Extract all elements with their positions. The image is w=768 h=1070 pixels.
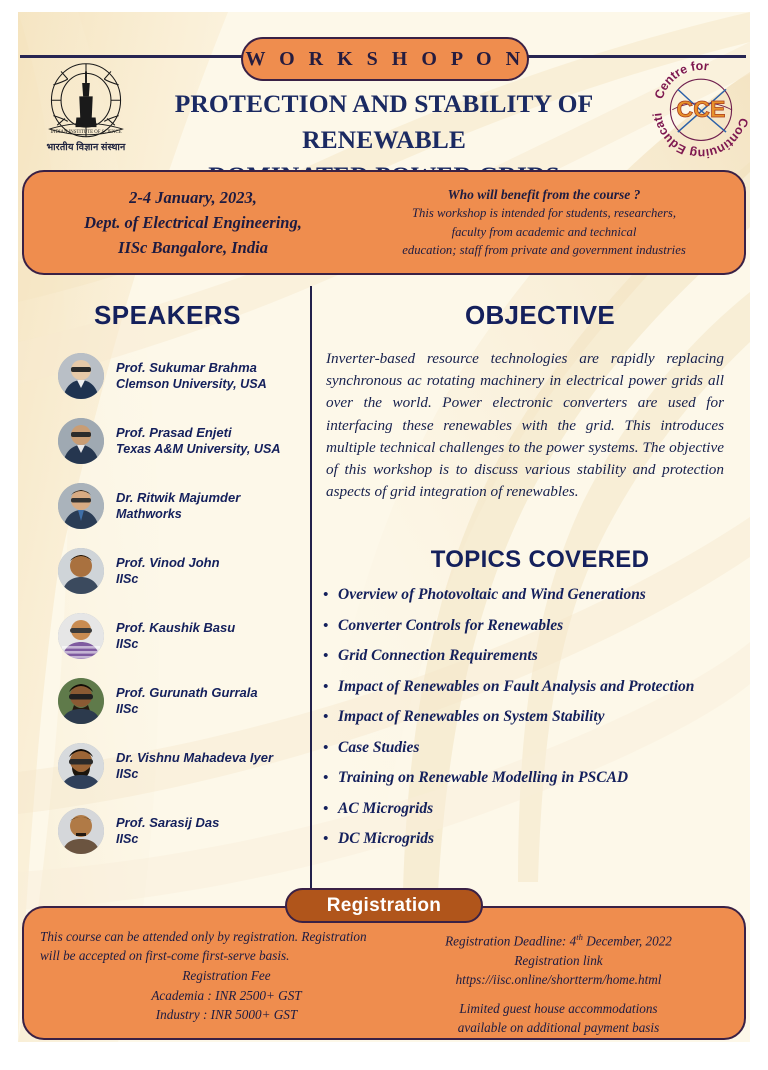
- speaker-item: Prof. Sukumar Brahma Clemson University,…: [58, 345, 308, 407]
- speaker-avatar: [58, 418, 104, 464]
- column-divider: [310, 286, 312, 894]
- event-location: IISc Bangalore, India: [118, 235, 268, 260]
- objective-heading: OBJECTIVE: [330, 300, 750, 331]
- audience-line-3: education; staff from private and govern…: [402, 241, 686, 260]
- speaker-affiliation: IISc: [116, 831, 219, 848]
- topic-item: Grid Connection Requirements: [322, 641, 742, 672]
- speaker-affiliation: Texas A&M University, USA: [116, 441, 280, 458]
- speaker-avatar: [58, 483, 104, 529]
- topic-item: Case Studies: [322, 733, 742, 764]
- speaker-affiliation: Clemson University, USA: [116, 376, 267, 393]
- accommodation-line-2: available on additional payment basis: [389, 1018, 728, 1038]
- topic-item: Converter Controls for Renewables: [322, 611, 742, 642]
- speaker-info: Prof. Gurunath Gurrala IISc: [116, 684, 258, 718]
- registration-deadline-ordinal: th: [576, 932, 583, 942]
- workshop-on-badge: W O R K S H O P O N: [241, 37, 529, 81]
- speaker-name: Prof. Gurunath Gurrala: [116, 684, 258, 701]
- topic-item: Training on Renewable Modelling in PSCAD: [322, 763, 742, 794]
- audience-line-2: faculty from academic and technical: [452, 223, 637, 242]
- audience-heading: Who will benefit from the course ?: [448, 185, 641, 204]
- registration-spacer: [389, 990, 728, 999]
- speaker-item: Prof. Sarasij Das IISc: [58, 800, 308, 862]
- registration-badge: Registration: [285, 888, 483, 923]
- speaker-info: Prof. Vinod John IISc: [116, 554, 220, 588]
- cce-logo: Centre for Continuing Education CCE: [650, 54, 752, 160]
- registration-link-url[interactable]: https://iisc.online/shortterm/home.html: [389, 970, 728, 990]
- speaker-info: Dr. Vishnu Mahadeva Iyer IISc: [116, 749, 273, 783]
- cce-logo-text: CCE: [677, 96, 726, 122]
- poster-title-line-1: PROTECTION AND STABILITY OF RENEWABLE: [104, 86, 664, 158]
- speakers-heading: SPEAKERS: [30, 300, 305, 331]
- speaker-info: Dr. Ritwik Majumder Mathworks: [116, 489, 240, 523]
- event-info-band: 2-4 January, 2023, Dept. of Electrical E…: [22, 170, 746, 275]
- speaker-info: Prof. Kaushik Basu IISc: [116, 619, 235, 653]
- speaker-name: Prof. Vinod John: [116, 554, 220, 571]
- topics-list: Overview of Photovoltaic and Wind Genera…: [322, 580, 742, 855]
- workshop-on-label: W O R K S H O P O N: [245, 48, 524, 71]
- speakers-list: Prof. Sukumar Brahma Clemson University,…: [58, 345, 308, 865]
- speaker-item: Prof. Prasad Enjeti Texas A&M University…: [58, 410, 308, 472]
- speaker-item: Prof. Gurunath Gurrala IISc: [58, 670, 308, 732]
- registration-deadline-prefix: Registration Deadline: 4: [445, 933, 576, 948]
- speaker-item: Prof. Vinod John IISc: [58, 540, 308, 602]
- speaker-name: Prof. Prasad Enjeti: [116, 424, 280, 441]
- speaker-affiliation: IISc: [116, 701, 258, 718]
- topic-item: DC Microgrids: [322, 824, 742, 855]
- speaker-avatar: [58, 548, 104, 594]
- speaker-name: Prof. Sarasij Das: [116, 814, 219, 831]
- event-department: Dept. of Electrical Engineering,: [84, 210, 302, 235]
- accommodation-line-1: Limited guest house accommodations: [389, 999, 728, 1019]
- registration-link-label: Registration link: [389, 951, 728, 971]
- speaker-avatar: [58, 353, 104, 399]
- registration-fee-block: Registration Fee Academia : INR 2500+ GS…: [40, 966, 379, 1025]
- speaker-info: Prof. Prasad Enjeti Texas A&M University…: [116, 424, 280, 458]
- registration-deadline-suffix: December, 2022: [583, 933, 672, 948]
- registration-fee-heading: Registration Fee: [74, 966, 379, 986]
- topic-item: Overview of Photovoltaic and Wind Genera…: [322, 580, 742, 611]
- registration-left-column: This course can be attended only by regi…: [40, 928, 385, 1028]
- speaker-affiliation: Mathworks: [116, 506, 240, 523]
- speaker-info: Prof. Sarasij Das IISc: [116, 814, 219, 848]
- topic-item: Impact of Renewables on Fault Analysis a…: [322, 672, 742, 703]
- speaker-avatar: [58, 678, 104, 724]
- event-date: 2-4 January, 2023,: [129, 185, 257, 210]
- registration-box: This course can be attended only by regi…: [22, 906, 746, 1040]
- event-date-venue: 2-4 January, 2023, Dept. of Electrical E…: [24, 172, 354, 273]
- speaker-name: Prof. Kaushik Basu: [116, 619, 235, 636]
- topic-item: Impact of Renewables on System Stability: [322, 702, 742, 733]
- registration-right-column: Registration Deadline: 4th December, 202…: [385, 928, 728, 1028]
- speaker-avatar: [58, 613, 104, 659]
- speaker-item: Dr. Vishnu Mahadeva Iyer IISc: [58, 735, 308, 797]
- registration-badge-label: Registration: [327, 895, 441, 917]
- registration-fee-academia: Academia : INR 2500+ GST: [74, 986, 379, 1006]
- topic-item: AC Microgrids: [322, 794, 742, 825]
- speaker-affiliation: IISc: [116, 766, 273, 783]
- workshop-poster: INDIAN INSTITUTE OF SCIENCE भारतीय विज्ञ…: [0, 0, 768, 1070]
- speaker-info: Prof. Sukumar Brahma Clemson University,…: [116, 359, 267, 393]
- audience-info: Who will benefit from the course ? This …: [354, 172, 744, 273]
- topics-heading: TOPICS COVERED: [330, 546, 750, 574]
- registration-policy-text: This course can be attended only by regi…: [40, 928, 379, 965]
- objective-text: Inverter-based resource technologies are…: [326, 348, 724, 503]
- speaker-avatar: [58, 743, 104, 789]
- speaker-name: Dr. Ritwik Majumder: [116, 489, 240, 506]
- speaker-item: Dr. Ritwik Majumder Mathworks: [58, 475, 308, 537]
- speaker-name: Prof. Sukumar Brahma: [116, 359, 267, 376]
- speaker-avatar: [58, 808, 104, 854]
- speaker-affiliation: IISc: [116, 571, 220, 588]
- speaker-affiliation: IISc: [116, 636, 235, 653]
- registration-fee-industry: Industry : INR 5000+ GST: [74, 1005, 379, 1025]
- registration-deadline: Registration Deadline: 4th December, 202…: [389, 928, 728, 951]
- speaker-name: Dr. Vishnu Mahadeva Iyer: [116, 749, 273, 766]
- speaker-item: Prof. Kaushik Basu IISc: [58, 605, 308, 667]
- audience-line-1: This workshop is intended for students, …: [412, 204, 676, 223]
